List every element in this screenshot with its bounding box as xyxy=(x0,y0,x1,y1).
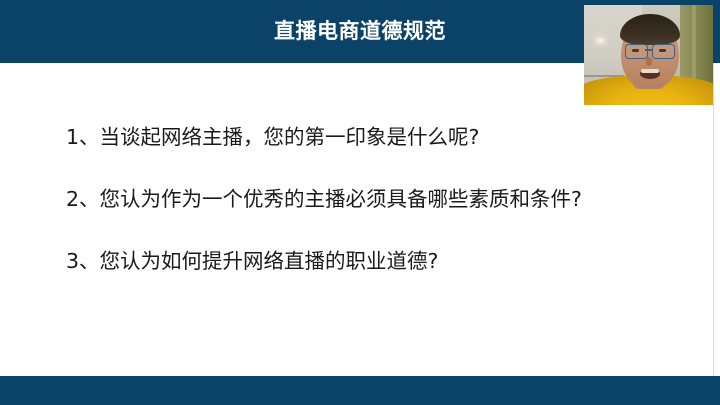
question-item-1: 1、当谈起网络主播，您的第一印象是什么呢? xyxy=(66,106,696,168)
slide-right-divider xyxy=(713,63,714,376)
webcam-presenter-nose xyxy=(646,57,652,66)
presentation-slide: 直播电商道德规范 1、当谈起网络主播，您的第一印象是什么呢? 2、您认为作为一个… xyxy=(0,0,720,405)
question-item-2: 2、您认为作为一个优秀的主播必须具备哪些素质和条件? xyxy=(66,168,696,230)
webcam-presenter-glasses-left-lens xyxy=(625,44,648,59)
webcam-presenter-glasses-bridge xyxy=(645,49,653,51)
webcam-ceiling-light xyxy=(597,38,604,43)
question-item-3: 3、您认为如何提升网络直播的职业道德? xyxy=(66,230,696,292)
slide-bottom-banner xyxy=(0,376,720,405)
webcam-presenter-glasses-right-lens xyxy=(652,44,675,59)
presenter-webcam-overlay[interactable] xyxy=(584,5,713,105)
webcam-presenter-teeth xyxy=(641,69,659,73)
question-list: 1、当谈起网络主播，您的第一印象是什么呢? 2、您认为作为一个优秀的主播必须具备… xyxy=(66,106,696,292)
